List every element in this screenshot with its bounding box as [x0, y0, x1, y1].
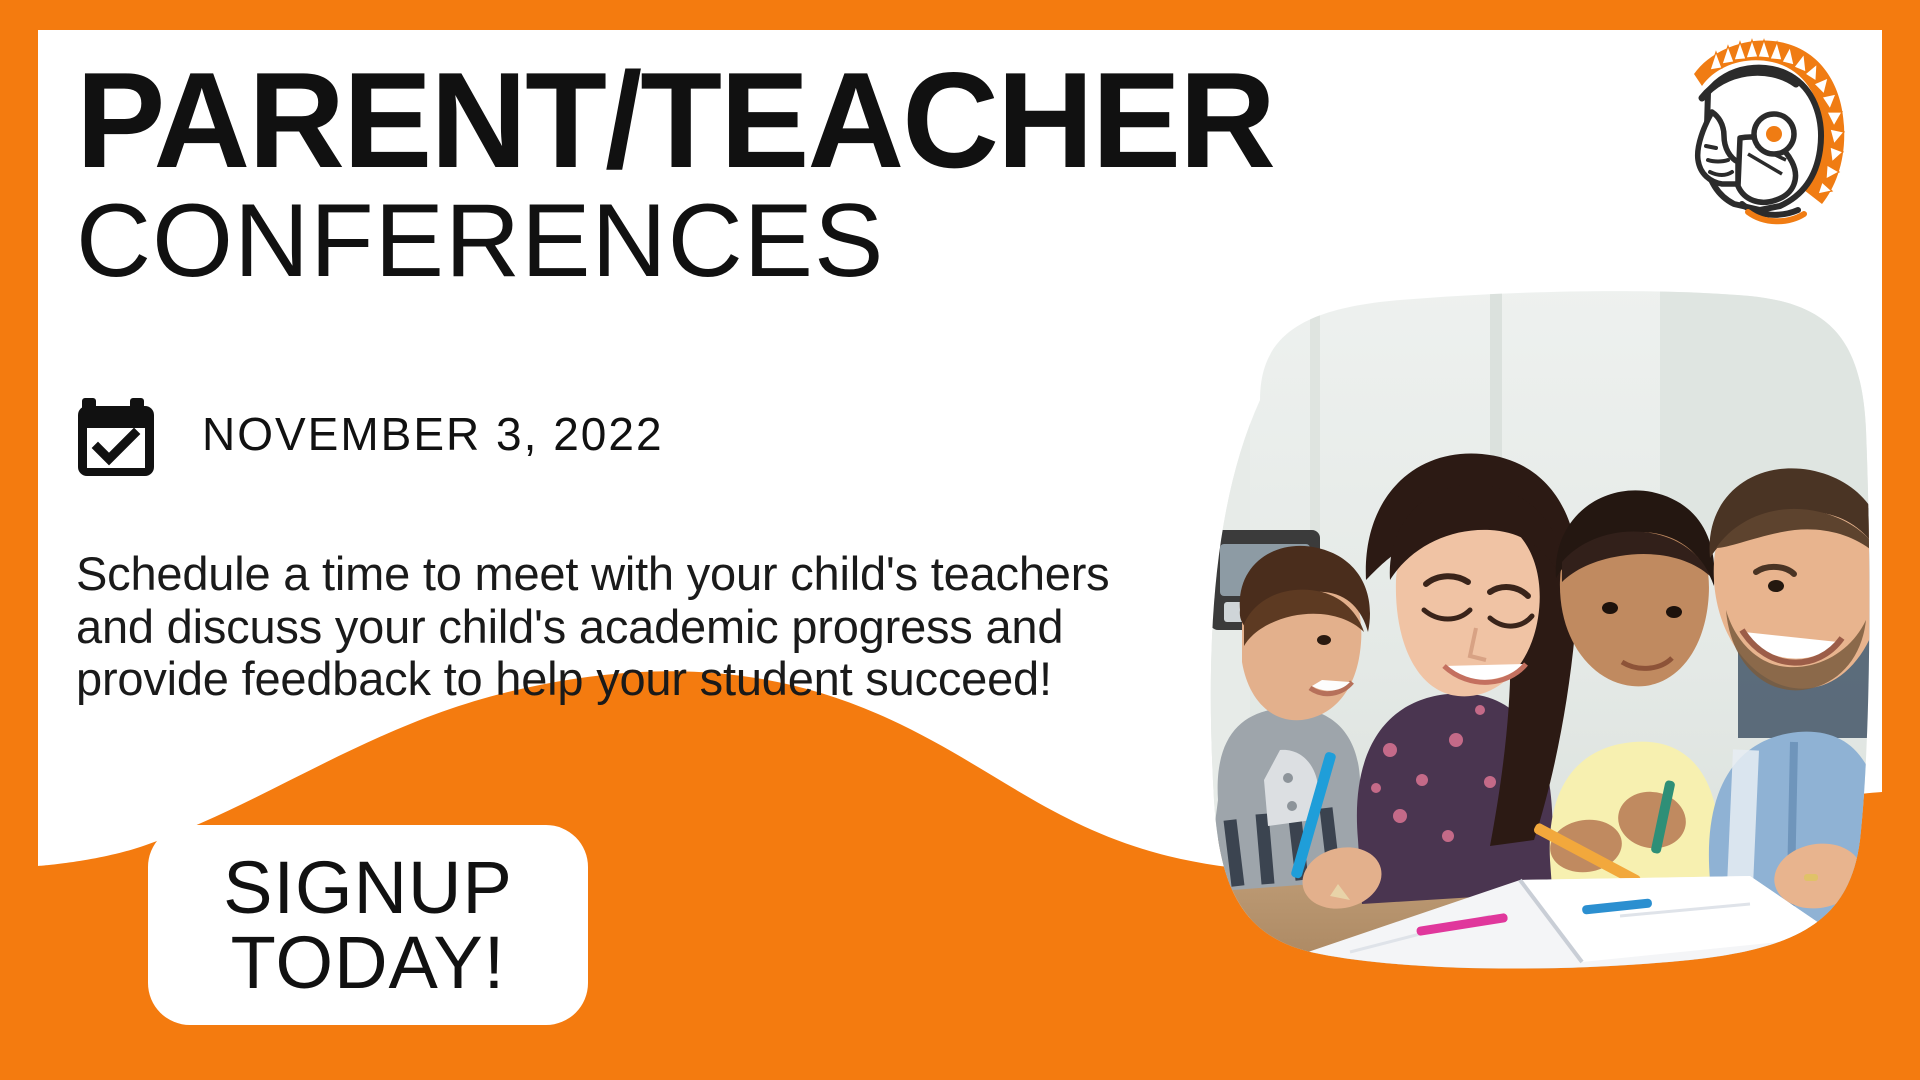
poster-root: PARENT/TEACHER CONFERENCES NOVEMBER 3, 2…	[0, 0, 1920, 1080]
page-subtitle: CONFERENCES	[76, 187, 1196, 296]
event-date-row: NOVEMBER 3, 2022	[76, 388, 664, 480]
cta-line-1: SIGNUP	[223, 850, 513, 925]
calendar-check-icon	[76, 388, 168, 480]
headline-block: PARENT/TEACHER CONFERENCES	[76, 58, 1196, 296]
family-doing-homework-photo	[1190, 280, 1870, 980]
event-date-text: NOVEMBER 3, 2022	[202, 407, 664, 461]
description-paragraph: Schedule a time to meet with your child'…	[76, 548, 1136, 706]
signup-today-button[interactable]: SIGNUP TODAY!	[148, 825, 588, 1025]
poster-canvas: PARENT/TEACHER CONFERENCES NOVEMBER 3, 2…	[38, 30, 1882, 1050]
page-title: PARENT/TEACHER	[76, 58, 1179, 183]
photo-illustration	[1190, 280, 1870, 980]
spartan-warrior-head-mascot-logo	[1664, 34, 1864, 244]
cta-line-2: TODAY!	[231, 925, 506, 1000]
